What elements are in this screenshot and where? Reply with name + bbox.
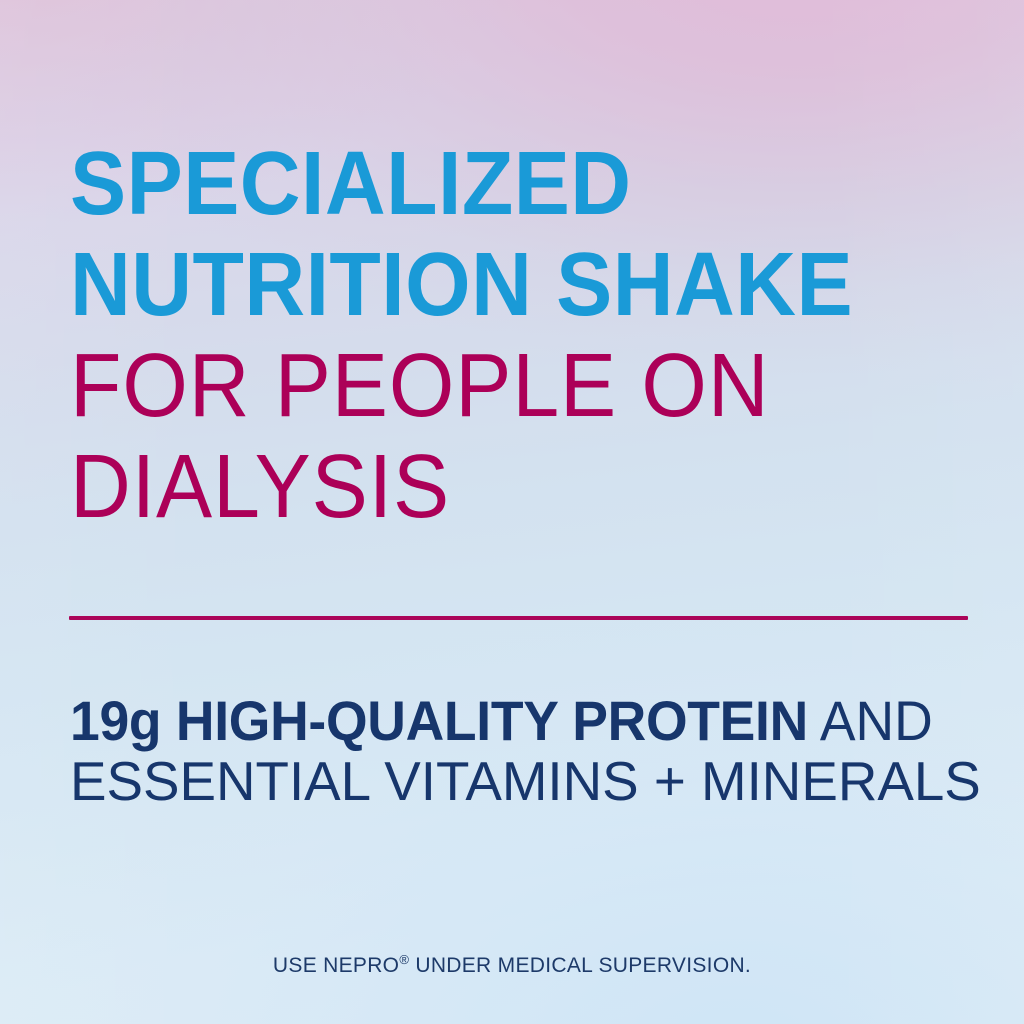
headline-line-4: DIALYSIS — [70, 437, 921, 538]
headline-line-1: SPECIALIZED — [70, 134, 921, 235]
headline-block: SPECIALIZED NUTRITION SHAKE FOR PEOPLE O… — [70, 134, 980, 538]
registered-trademark-icon: ® — [399, 952, 409, 967]
headline-line-3: FOR PEOPLE ON — [70, 336, 921, 437]
supervision-footnote: USE NEPRO® UNDER MEDICAL SUPERVISION. — [0, 953, 1024, 979]
headline-line-2: NUTRITION SHAKE — [70, 235, 921, 336]
footnote-prefix: USE NEPRO — [273, 954, 399, 977]
claim-line-1: 19g HIGH-QUALITY PROTEIN AND — [70, 691, 941, 751]
poster-content: SPECIALIZED NUTRITION SHAKE FOR PEOPLE O… — [0, 0, 1024, 1024]
claim-line-2: ESSENTIAL VITAMINS + MINERALS — [70, 751, 977, 811]
magenta-divider-rule — [69, 616, 968, 620]
claim-line-1-conjunction: AND — [808, 689, 933, 752]
footnote-suffix: UNDER MEDICAL SUPERVISION. — [409, 954, 751, 977]
claim-protein-highlight: 19g HIGH-QUALITY PROTEIN — [70, 689, 808, 752]
nepro-promo-poster: SPECIALIZED NUTRITION SHAKE FOR PEOPLE O… — [0, 0, 1024, 1024]
product-claim-block: 19g HIGH-QUALITY PROTEIN AND ESSENTIAL V… — [70, 691, 982, 811]
